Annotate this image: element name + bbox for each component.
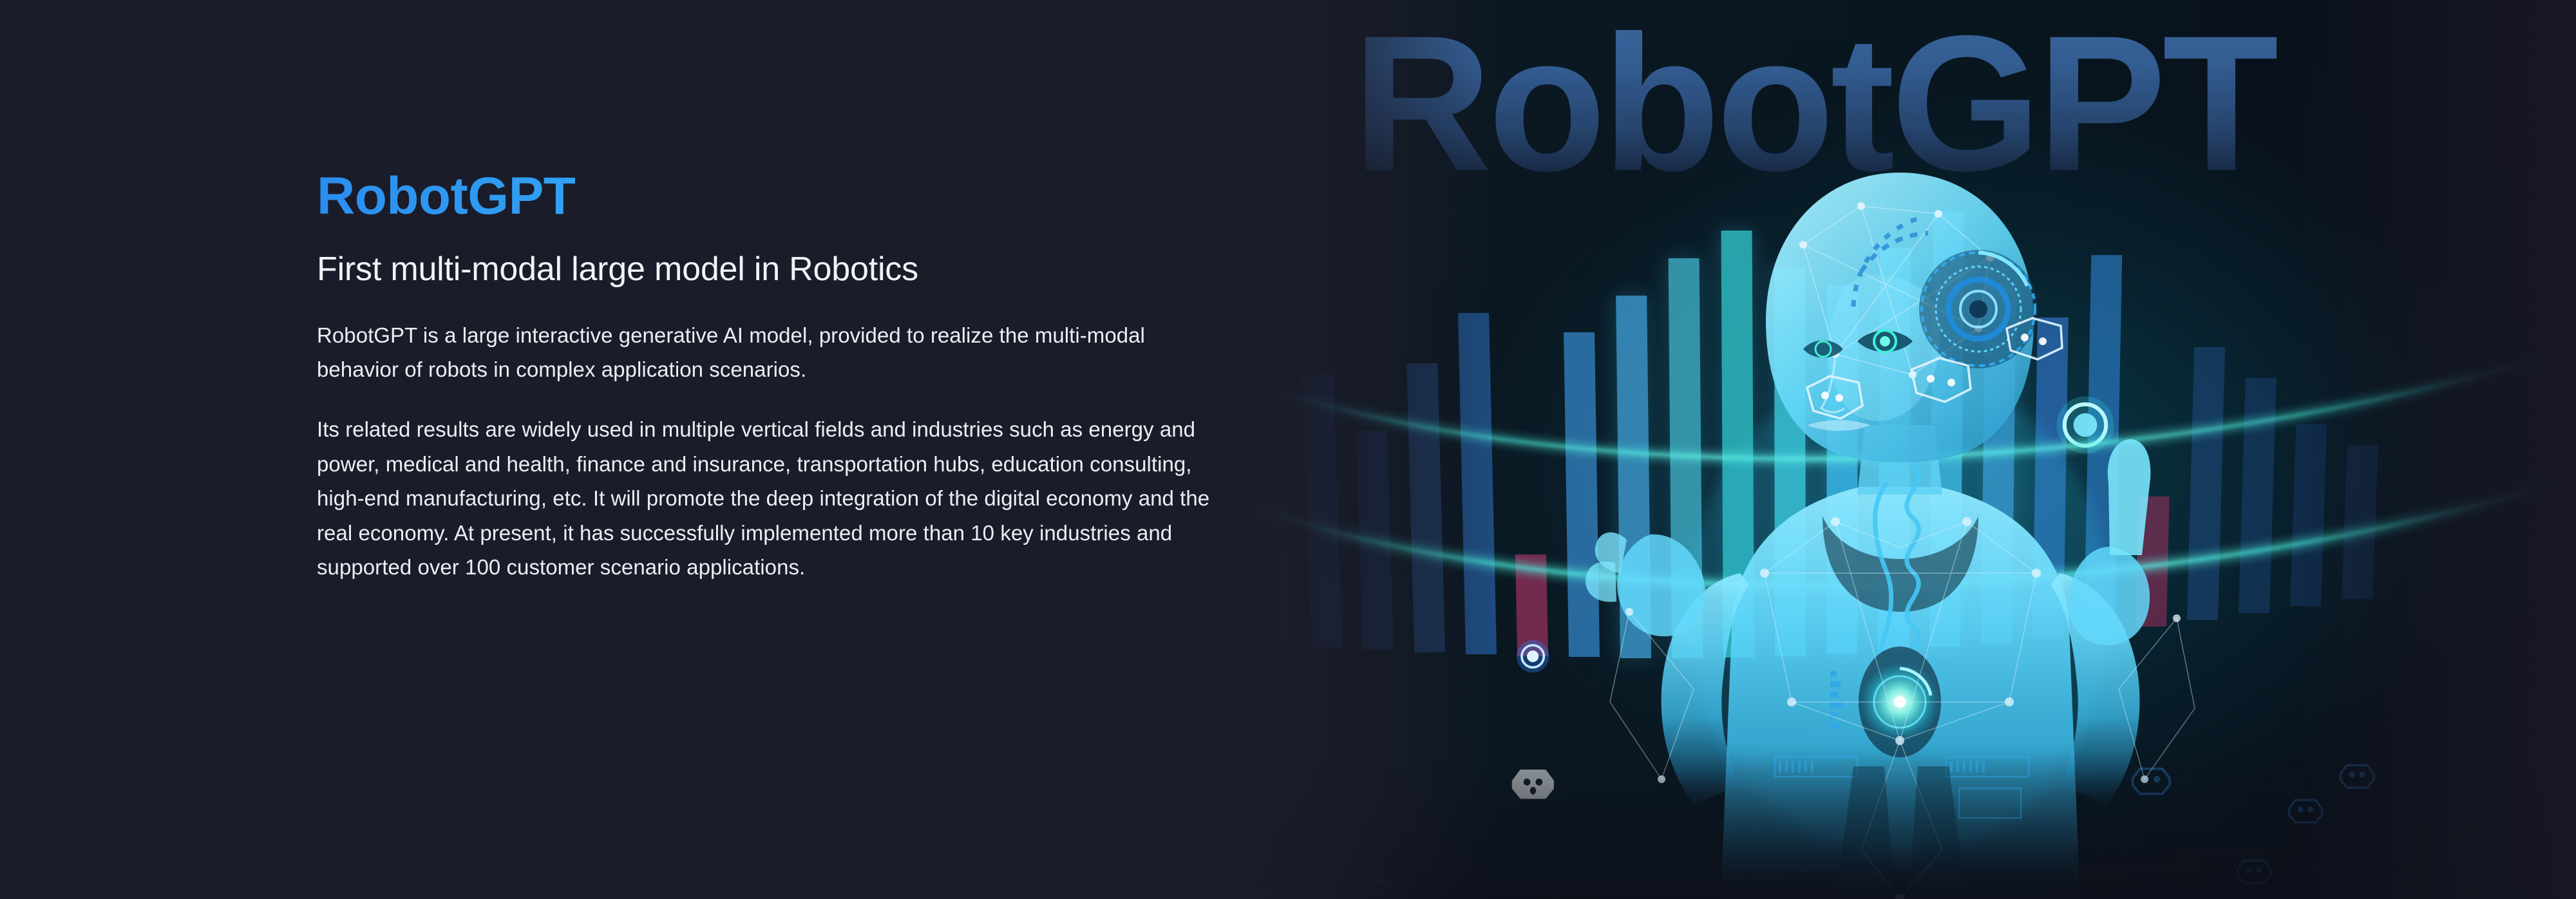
hero-banner: RobotGPT First multi-modal large model i… <box>0 0 2576 899</box>
robot-face-icon <box>1360 879 1396 899</box>
chart-bar <box>1251 410 1291 644</box>
chart-bar <box>1302 375 1342 647</box>
page-subtitle: First multi-modal large model in Robotic… <box>317 251 1225 288</box>
description-paragraph-2: Its related results are widely used in m… <box>317 412 1218 584</box>
chart-bar <box>1406 363 1445 652</box>
chart-bar <box>2342 445 2378 599</box>
hero-illustration: RobotGPT <box>1224 0 2576 899</box>
robot-figure <box>1501 122 2299 899</box>
chart-bar <box>1356 431 1394 650</box>
copy-column: RobotGPT First multi-modal large model i… <box>317 169 1225 585</box>
page-title: RobotGPT <box>317 169 1225 223</box>
description-paragraph-1: RobotGPT is a large interactive generati… <box>317 318 1218 387</box>
robot-face-icon <box>1257 889 1293 899</box>
chart-bar <box>1458 313 1497 654</box>
robot-face-icon <box>2339 763 2375 790</box>
